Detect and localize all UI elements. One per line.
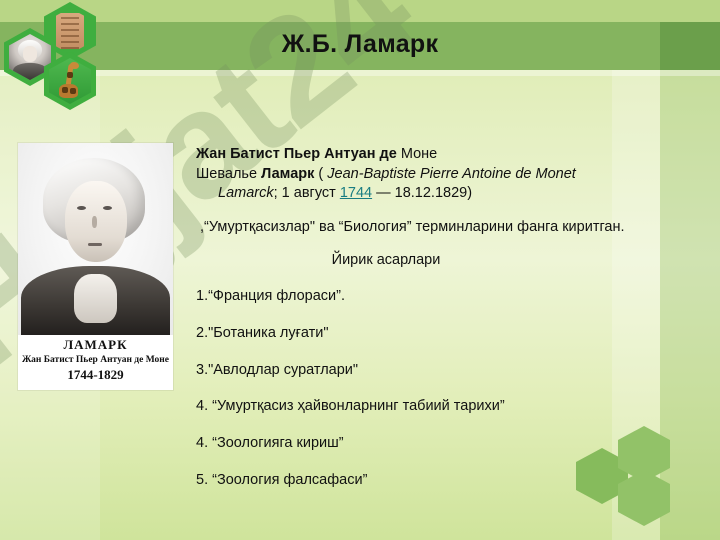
book-page	[56, 13, 85, 50]
header-underline-band	[0, 70, 720, 76]
intro-lamark-bold: Ламарк	[261, 166, 314, 182]
portrait-caption: ЛАМАРК Жан Батист Пьер Антуан де Моне 17…	[18, 337, 173, 383]
header-top-band	[0, 0, 720, 22]
intro-bold-lead: Жан Батист Пьер Антуан де	[196, 146, 397, 162]
work-item-1: 1.“Франция флораси”.	[196, 287, 671, 306]
works-heading: Йирик асарлари	[196, 251, 576, 271]
logo-hexagon-cluster	[4, 2, 104, 110]
work-item-6: 5. “Зоология фалсафаси”	[196, 471, 671, 490]
terms-paragraph: ,“Умуртқасизлар" ва “Биология” терминлар…	[196, 218, 630, 238]
intro-plain-1: Моне	[397, 146, 437, 162]
lamarck-portrait-card: ЛАМАРК Жан Батист Пьер Антуан де Моне 17…	[18, 143, 173, 390]
intro-chevalier: Шевалье	[196, 166, 261, 182]
work-item-2: 2."Ботаника луғати"	[196, 324, 671, 343]
work-item-5: 4. “Зоологияга кириш”	[196, 434, 671, 453]
year-1744-link[interactable]: 1744	[340, 185, 372, 201]
terms-text: “Умуртқасизлар" ва “Биология” терминлари…	[204, 219, 625, 235]
intro-line2: Шевалье Ламарк ( Jean-Baptiste Pierre An…	[218, 165, 623, 204]
work-item-4: 4. “Умуртқасиз ҳайвонларнинг табиий тари…	[196, 397, 671, 416]
slide: Hujjat24 Ж.Б. Ламарк	[0, 0, 720, 540]
body-text-block: Жан Батист Пьер Антуан де Моне Шевалье Л…	[196, 145, 671, 508]
intro-after-italic: ; 1 август	[274, 185, 340, 201]
portrait-caption-fullname: Жан Батист Пьер Антуан де Моне	[18, 355, 173, 365]
intro-open-paren: (	[314, 166, 327, 182]
portrait-caption-years: 1744-1829	[18, 367, 173, 383]
intro-paragraph: Жан Батист Пьер Антуан де Моне Шевалье Л…	[196, 145, 623, 204]
page-title: Ж.Б. Ламарк	[0, 30, 720, 59]
lamarck-portrait-image	[18, 143, 173, 335]
portrait-caption-name: ЛАМАРК	[18, 337, 173, 353]
intro-tail: — 18.12.1829)	[372, 185, 472, 201]
work-item-3: 3."Авлодлар суратлари"	[196, 361, 671, 380]
